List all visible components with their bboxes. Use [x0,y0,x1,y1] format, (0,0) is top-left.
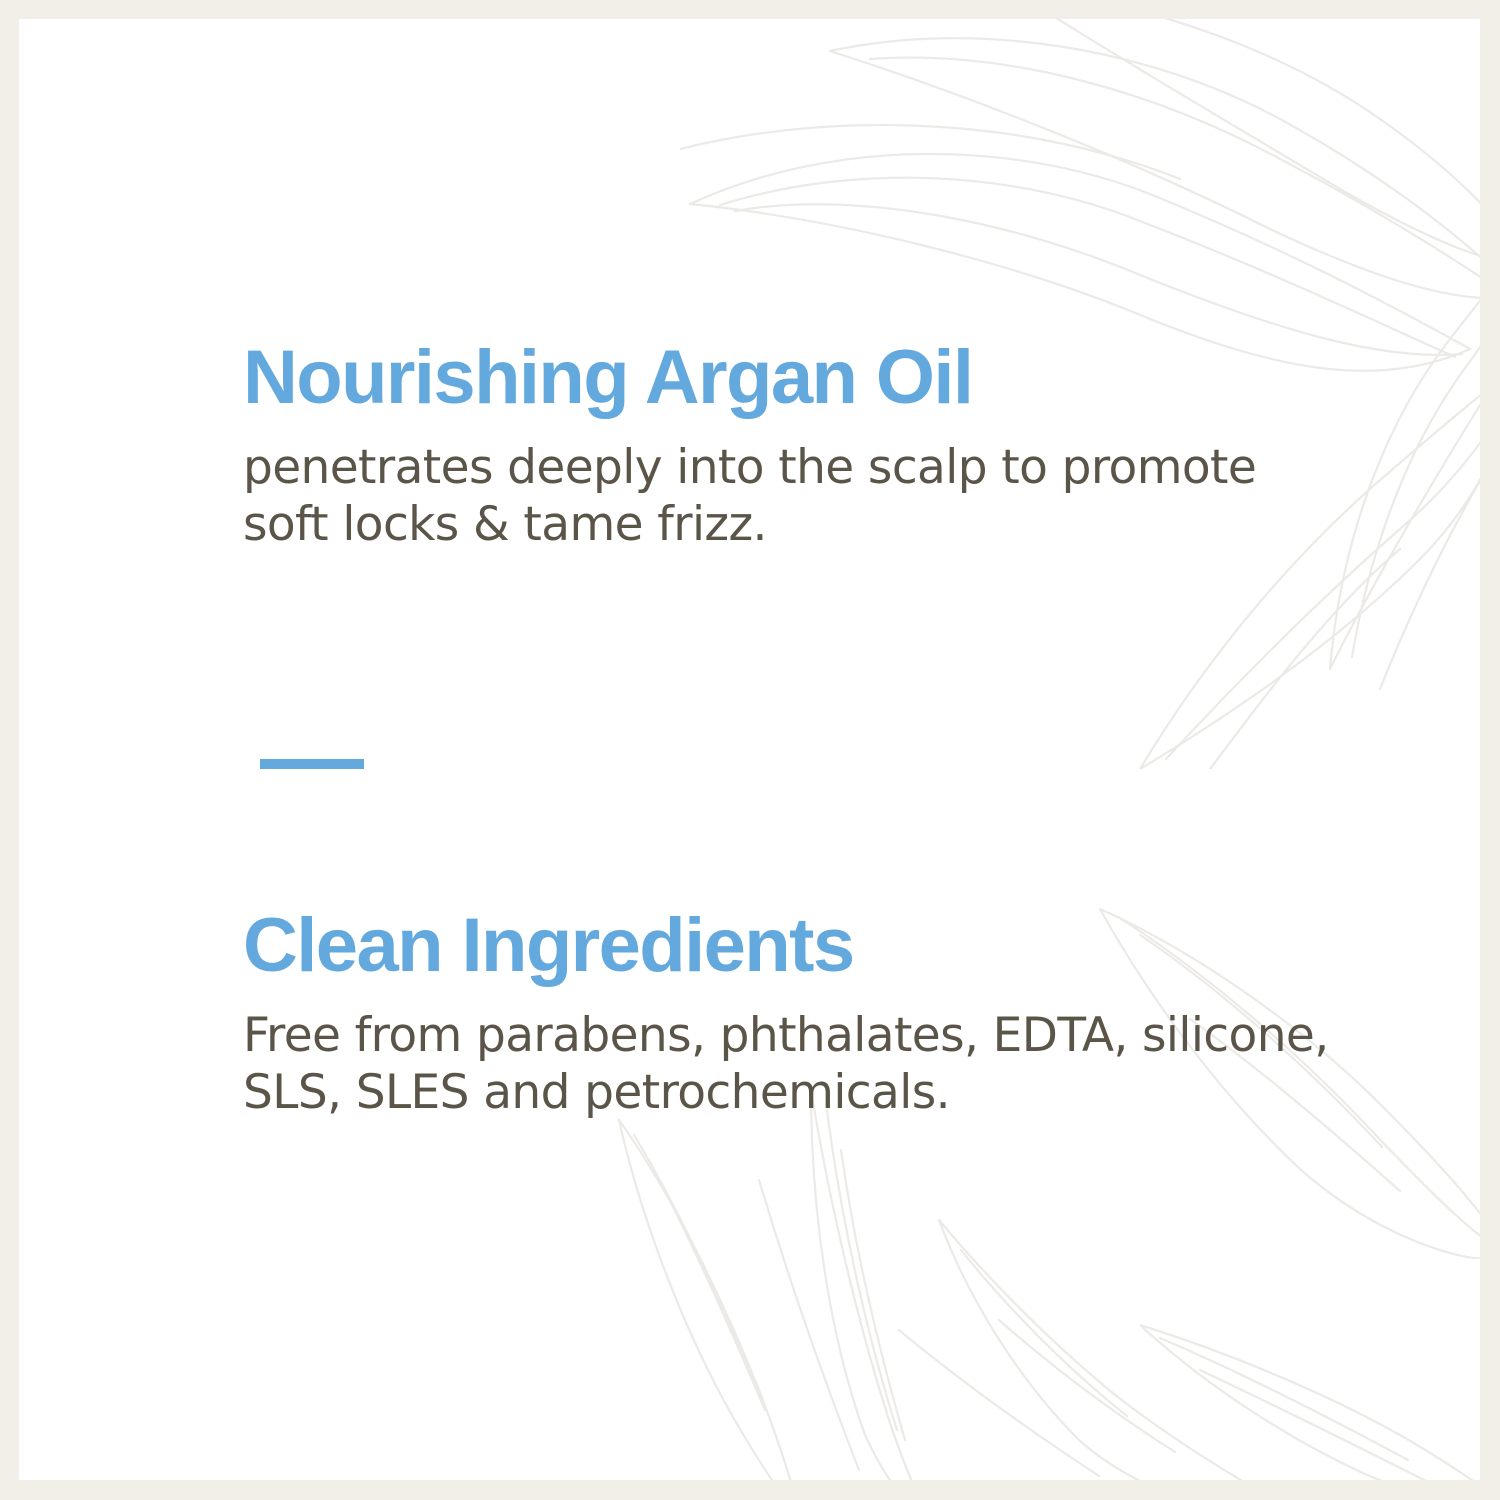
feature-block-clean-ingredients: Clean Ingredients Free from parabens, ph… [243,907,1343,1121]
feature-title-argan-oil: Nourishing Argan Oil [243,339,1343,417]
poster-canvas: Nourishing Argan Oil penetrates deeply i… [19,19,1480,1480]
feature-block-argan-oil: Nourishing Argan Oil penetrates deeply i… [243,339,1343,553]
feature-title-clean-ingredients: Clean Ingredients [243,907,1343,985]
feature-content: Nourishing Argan Oil penetrates deeply i… [19,19,1480,1480]
section-divider [260,759,364,769]
feature-description-clean-ingredients: Free from parabens, phthalates, EDTA, si… [243,1007,1343,1121]
feature-description-argan-oil: penetrates deeply into the scalp to prom… [243,439,1343,553]
poster-frame: Nourishing Argan Oil penetrates deeply i… [0,0,1500,1500]
